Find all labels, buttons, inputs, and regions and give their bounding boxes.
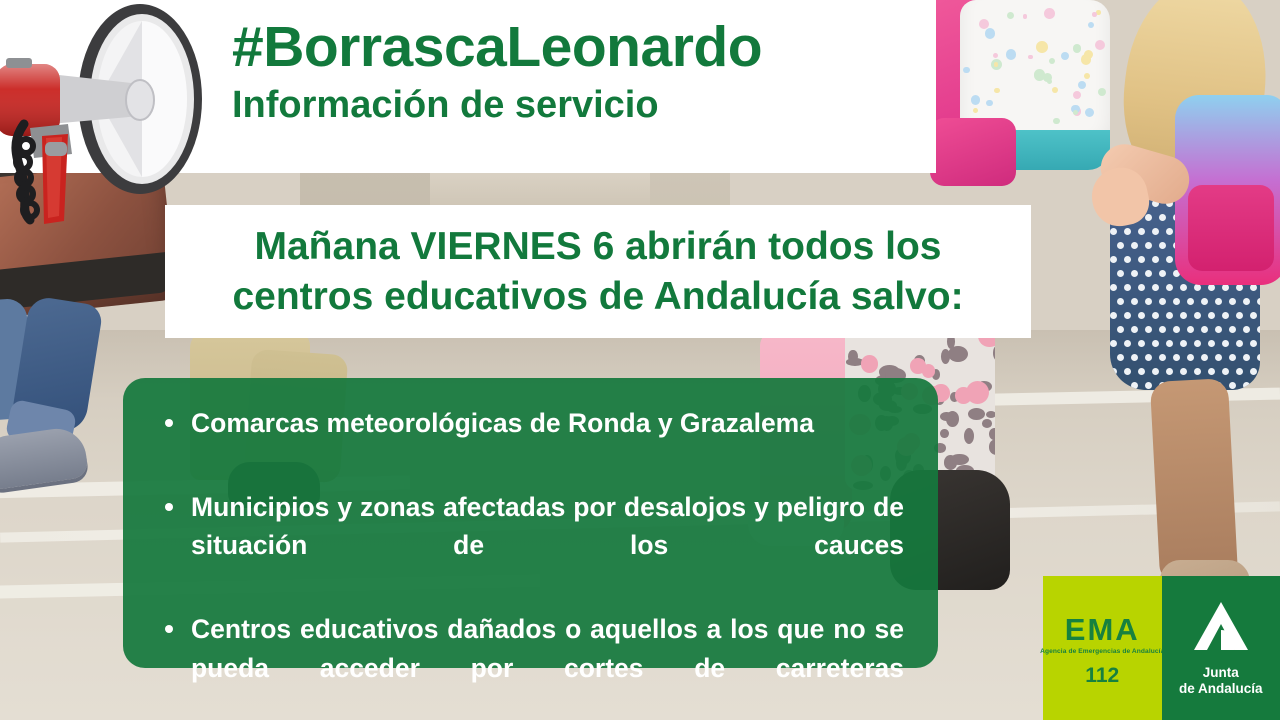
junta-logo: Junta de Andalucía [1162, 576, 1280, 720]
statement-line-2: centros educativos de Andalucía salvo: [232, 272, 963, 322]
exceptions-list: Comarcas meteorológicas de Ronda y Graza… [157, 404, 904, 720]
page-subtitle: Información de servicio [232, 86, 932, 126]
junta-label-line-1: Junta [1179, 665, 1263, 681]
ema-logo: EMA Agencia de Emergencias de Andalucía … [1043, 576, 1162, 720]
list-item-text: Centros educativos dañados o aquellos a … [191, 614, 904, 682]
statement-panel: Mañana VIERNES 6 abrirán todos los centr… [165, 205, 1031, 338]
exceptions-panel: Comarcas meteorológicas de Ronda y Graza… [123, 378, 938, 668]
bullet-dot-icon [165, 625, 173, 633]
junta-label-line-2: de Andalucía [1179, 681, 1263, 697]
megaphone-icon [0, 0, 240, 246]
junta-label: Junta de Andalucía [1179, 665, 1263, 697]
page-hashtag: #BorrascaLeonardo [232, 18, 932, 78]
list-item: Centros educativos dañados o aquellos a … [157, 610, 904, 720]
logo-block: EMA Agencia de Emergencias de Andalucía … [1043, 576, 1280, 720]
statement-line-1: Mañana VIERNES 6 abrirán todos los [255, 222, 942, 272]
ema-title: EMA [1065, 614, 1140, 645]
bullet-dot-icon [165, 419, 173, 427]
list-item-text: Municipios y zonas afectadas por desaloj… [191, 492, 904, 560]
andalucia-arch-icon [1190, 600, 1252, 659]
list-item: Comarcas meteorológicas de Ronda y Graza… [157, 404, 904, 481]
background-backpack-pink-pocket [930, 118, 1016, 186]
list-item-text: Comarcas meteorológicas de Ronda y Graza… [191, 408, 814, 438]
bullet-dot-icon [165, 503, 173, 511]
background-leg-right [1150, 378, 1238, 582]
ema-subtitle: Agencia de Emergencias de Andalucía [1040, 648, 1164, 655]
list-item: Municipios y zonas afectadas por desaloj… [157, 488, 904, 603]
ema-phone-number: 112 [1085, 665, 1119, 686]
background-backpack-pocket [1188, 185, 1274, 271]
